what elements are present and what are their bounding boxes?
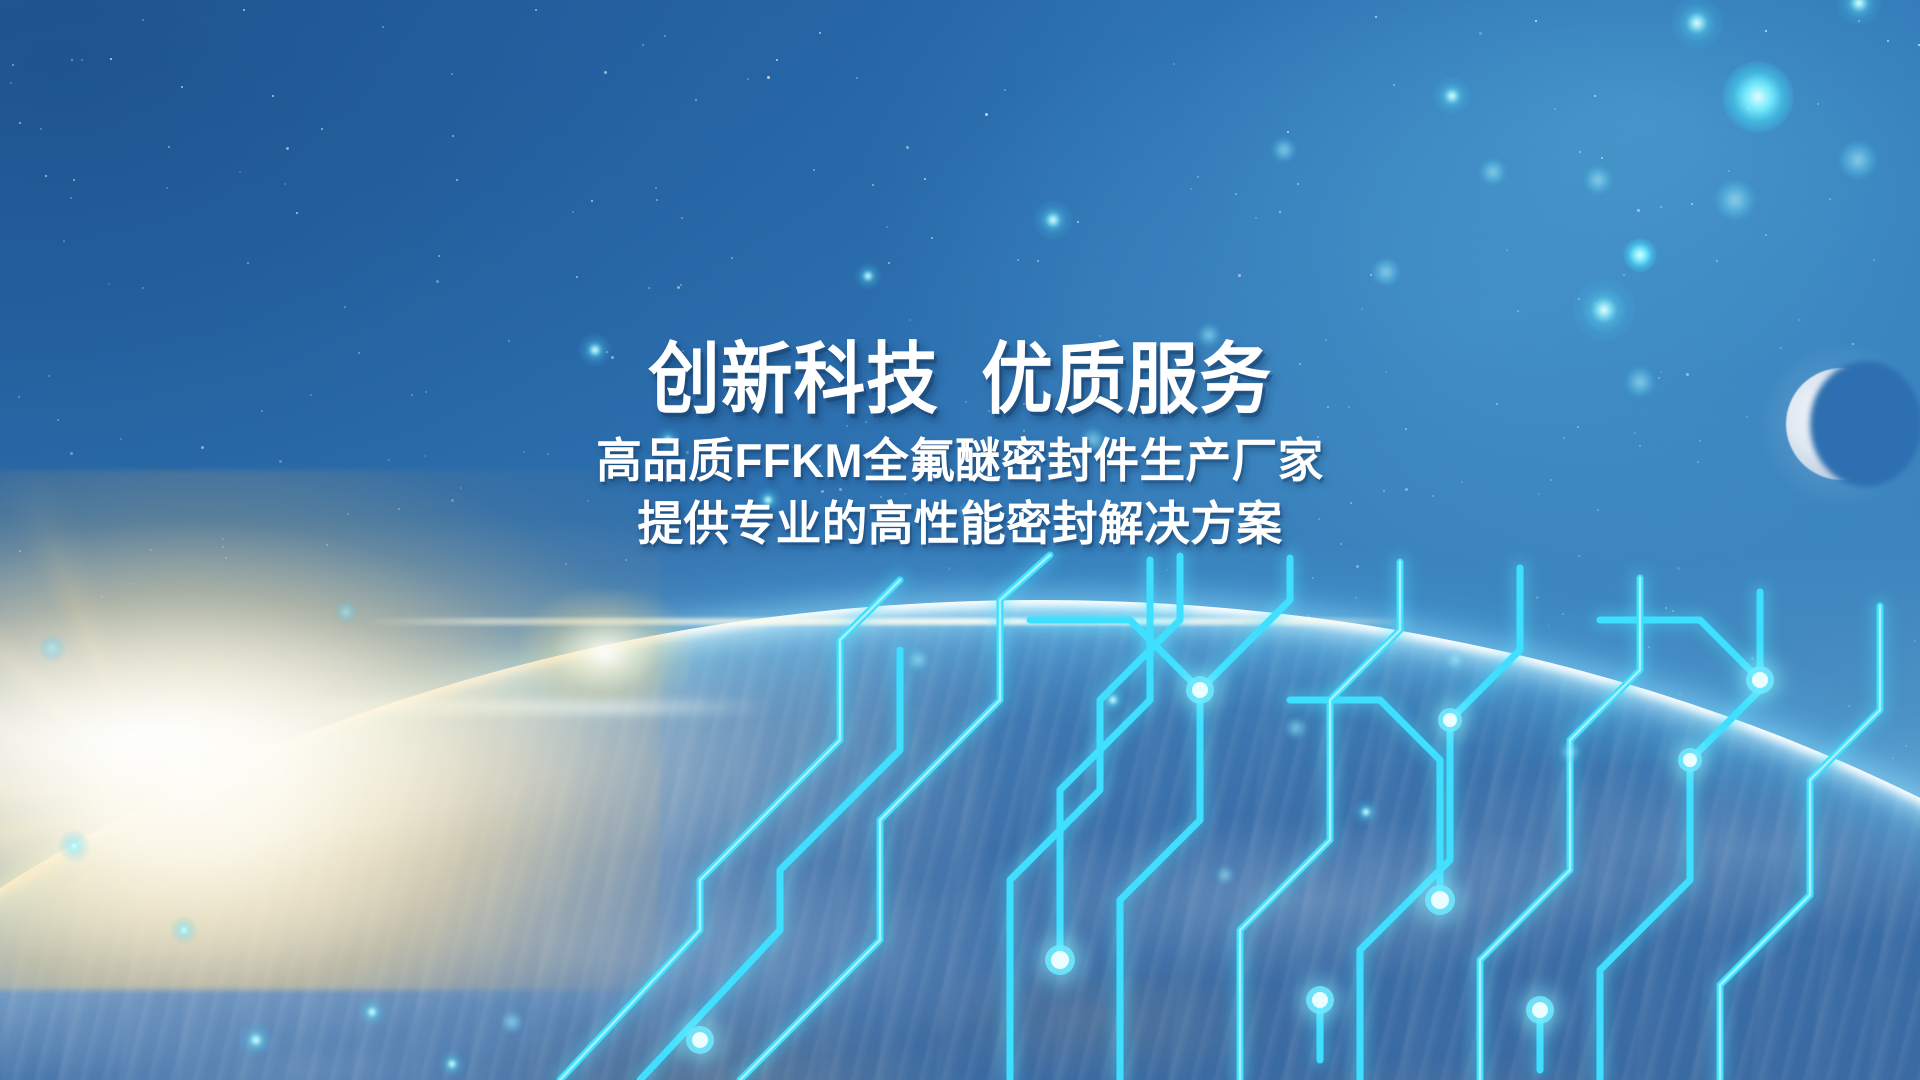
subheadline-line-1: 高品质FFKM全氟醚密封件生产厂家 bbox=[29, 432, 1891, 489]
page-title: 创新科技优质服务 bbox=[77, 340, 1843, 420]
lens-flare-streak-secondary bbox=[250, 700, 770, 714]
hero-banner: 创新科技优质服务 高品质FFKM全氟醚密封件生产厂家 提供专业的高性能密封解决方… bbox=[0, 0, 1920, 1080]
sun-horizon-bloom bbox=[0, 530, 980, 950]
headline-part-1: 创新科技 bbox=[648, 335, 939, 423]
banner-copy: 创新科技优质服务 高品质FFKM全氟醚密封件生产厂家 提供专业的高性能密封解决方… bbox=[0, 340, 1920, 552]
lens-flare-streak bbox=[360, 618, 1420, 625]
lens-flare-burst bbox=[520, 590, 690, 700]
subheadline-line-2: 提供专业的高性能密封解决方案 bbox=[29, 495, 1891, 552]
headline-part-2: 优质服务 bbox=[981, 335, 1272, 423]
